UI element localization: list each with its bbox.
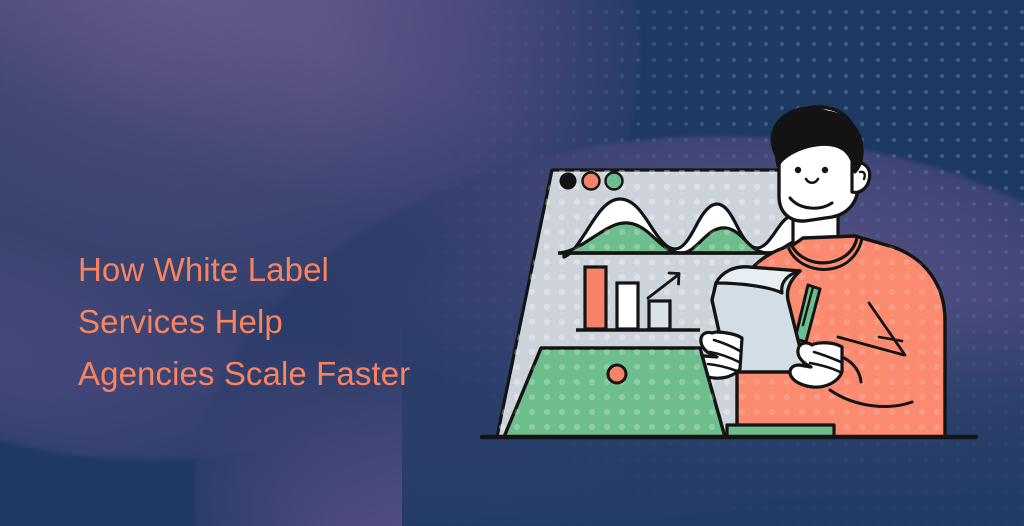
bar-2 [617,283,638,329]
bar-1 [585,267,606,329]
hero-illustration [0,0,1024,526]
bar-3 [649,301,670,329]
laptop-lid-texture [504,348,725,437]
eye-right [822,167,828,173]
window-dot-close[interactable] [560,173,577,190]
window-controls [560,173,623,190]
blog-banner: How White Label Services Help Agencies S… [0,0,1024,526]
laptop-logo [608,365,626,383]
window-dot-maximize[interactable] [606,173,623,190]
eye-left [795,167,801,173]
window-dot-minimize[interactable] [583,173,600,190]
